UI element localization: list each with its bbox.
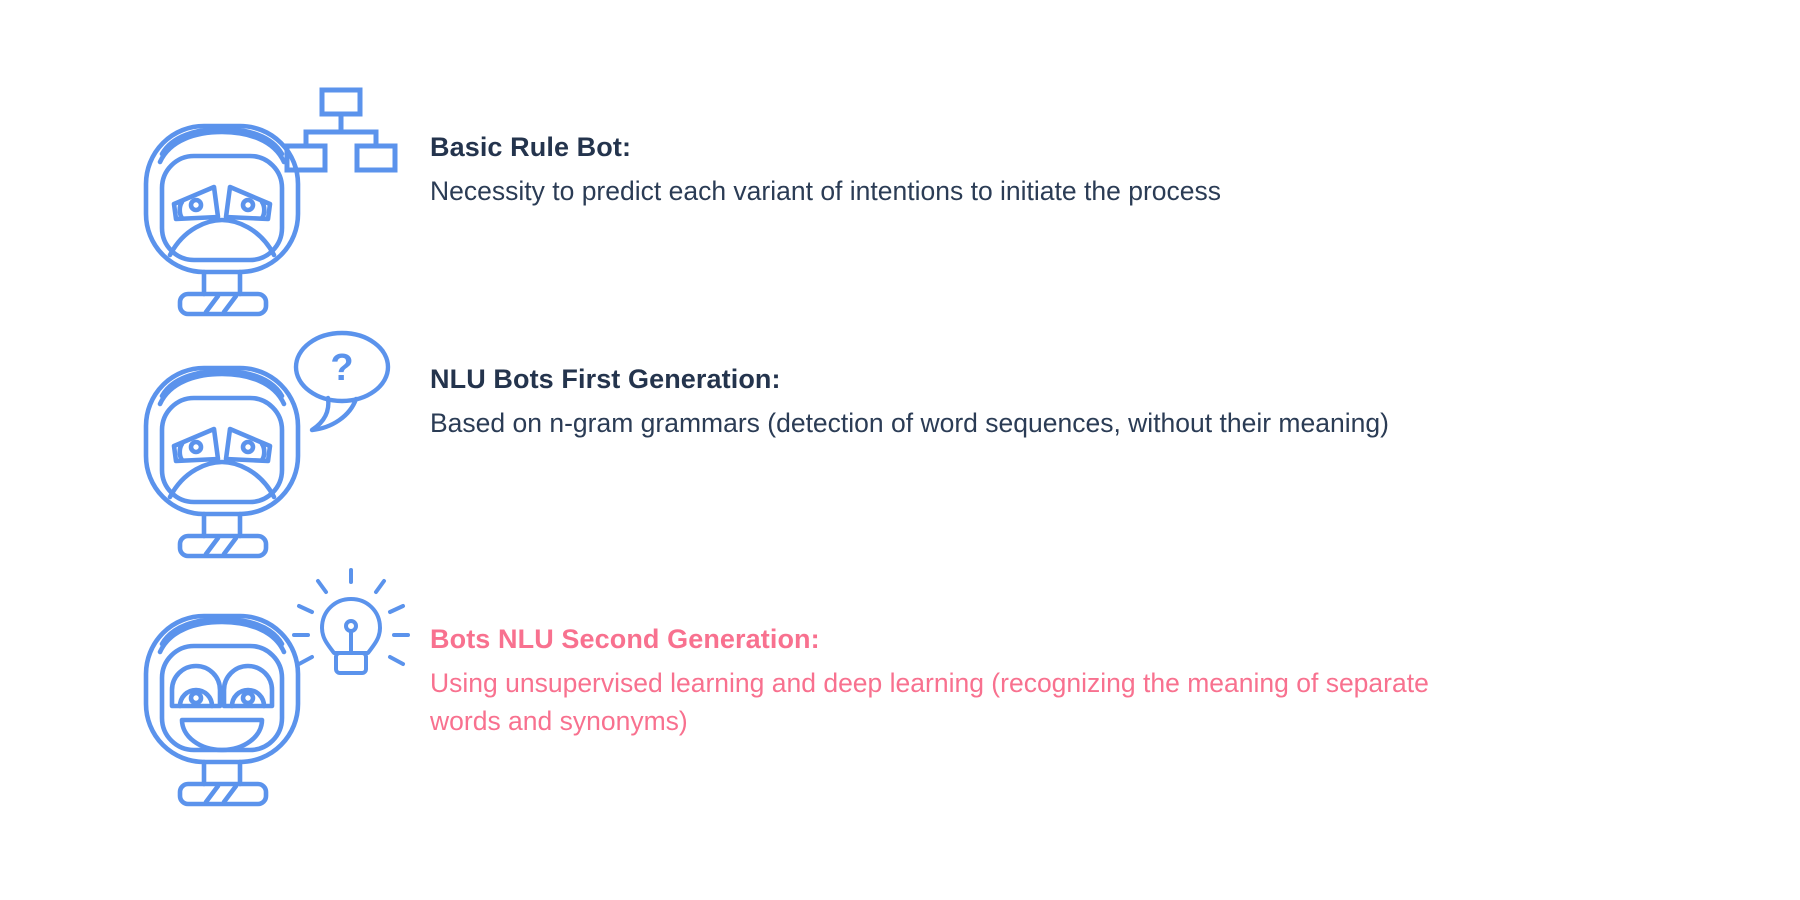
org-chart-node-right xyxy=(357,146,395,170)
robot-right-pupil xyxy=(243,693,253,703)
robot-right-pupil xyxy=(243,200,253,210)
text-block: NLU Bots First Generation: Based on n-gr… xyxy=(430,330,1389,442)
robot-base-stripe-2 xyxy=(224,538,236,554)
page-title: Basic Rule Bot: xyxy=(430,130,1221,165)
sad-robot-with-org-chart-icon xyxy=(140,88,400,318)
robot-illustration xyxy=(140,578,400,808)
description-line: Based on n-gram grammars (detection of w… xyxy=(430,404,1389,443)
description-line: Using unsupervised learning and deep lea… xyxy=(430,664,1429,703)
robot-frown-mouth xyxy=(170,462,274,497)
robot-right-pupil xyxy=(243,442,253,452)
happy-robot-with-lightbulb-icon xyxy=(140,578,400,808)
robot-right-eye-lid xyxy=(262,202,264,218)
lightbulb-ray-upper-right xyxy=(376,581,384,592)
question-mark-glyph: ? xyxy=(330,347,353,389)
sad-robot-with-question-bubble-icon: ? xyxy=(140,330,400,560)
description-line: Necessity to predict each variant of int… xyxy=(430,172,1221,211)
question-speech-bubble-icon: ? xyxy=(296,333,388,430)
robot-left-pupil xyxy=(191,200,201,210)
lightbulb-ray-lower-left xyxy=(299,657,312,664)
lightbulb-ray-lower-right xyxy=(390,657,403,664)
lightbulb-ray-right xyxy=(390,606,403,612)
org-chart-node-top xyxy=(322,90,360,114)
list-item: Bots NLU Second Generation: Using unsupe… xyxy=(140,578,1429,808)
page-title: NLU Bots First Generation: xyxy=(430,362,1389,397)
description-line: words and synonyms) xyxy=(430,702,1429,741)
robot-base-stripe-1 xyxy=(206,786,218,802)
lightbulb-idea-icon xyxy=(294,570,408,673)
robot-left-pupil xyxy=(191,693,201,703)
list-item: ? NLU Bots First Generation: Based on n-… xyxy=(140,330,1389,560)
robot-base-stripe-2 xyxy=(224,786,236,802)
text-block: Basic Rule Bot: Necessity to predict eac… xyxy=(430,88,1221,210)
page-title: Bots NLU Second Generation: xyxy=(430,622,1429,657)
robot-illustration xyxy=(140,88,400,318)
robot-left-eye-lid xyxy=(180,444,182,460)
robot-smile-mouth xyxy=(182,720,262,750)
slide-canvas: Basic Rule Bot: Necessity to predict eac… xyxy=(0,0,1800,900)
lightbulb-ray-left xyxy=(299,606,312,612)
list-item: Basic Rule Bot: Necessity to predict eac… xyxy=(140,88,1221,318)
lightbulb-base xyxy=(336,653,366,673)
robot-base-stripe-1 xyxy=(206,538,218,554)
lightbulb-ray-upper-left xyxy=(318,581,326,592)
robot-base-stripe-2 xyxy=(224,296,236,312)
org-chart-icon xyxy=(287,90,395,170)
robot-illustration: ? xyxy=(140,330,400,560)
robot-base-stripe-1 xyxy=(206,296,218,312)
robot-left-pupil xyxy=(191,442,201,452)
robot-frown-mouth xyxy=(170,220,274,255)
robot-right-eye-lid xyxy=(262,444,264,460)
text-block: Bots NLU Second Generation: Using unsupe… xyxy=(430,578,1429,741)
robot-left-eye-lid xyxy=(180,202,182,218)
